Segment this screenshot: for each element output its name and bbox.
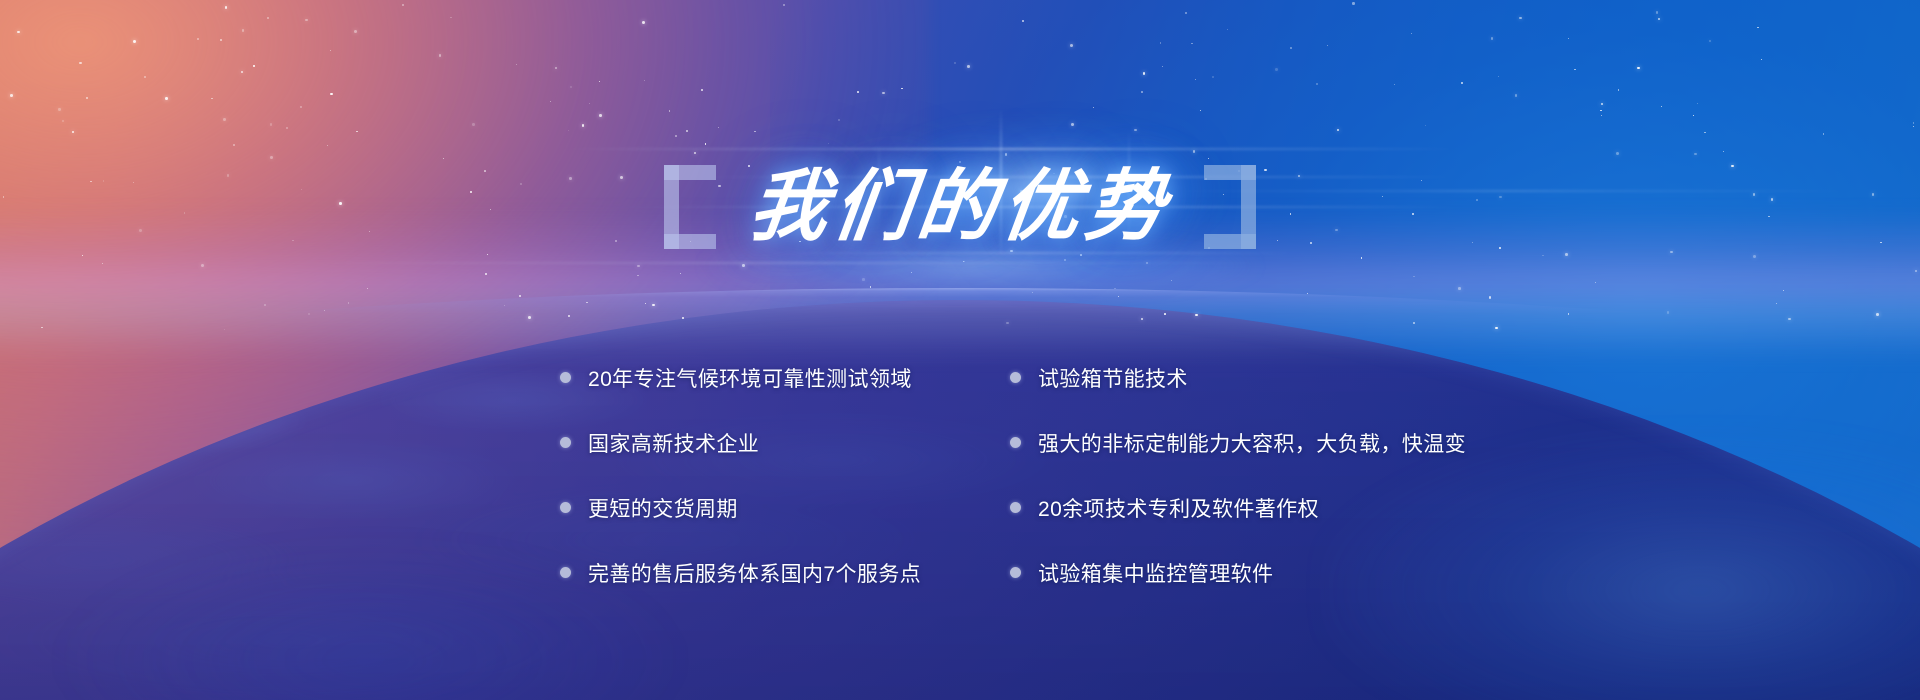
list-item-label: 试验箱集中监控管理软件 bbox=[1038, 558, 1273, 588]
list-item-label: 强大的非标定制能力大容积，大负载，快温变 bbox=[1038, 428, 1466, 458]
list-item: 20余项技术专利及软件著作权 bbox=[1010, 485, 1570, 530]
list-item: 试验箱集中监控管理软件 bbox=[1010, 550, 1570, 595]
list-item-label: 更短的交货周期 bbox=[588, 493, 738, 523]
list-item: 更短的交货周期 bbox=[560, 485, 1010, 530]
bullet-dot-icon bbox=[560, 567, 571, 578]
atmosphere-haze bbox=[0, 210, 1920, 360]
bullet-dot-icon bbox=[560, 502, 571, 513]
list-item: 强大的非标定制能力大容积，大负载，快温变 bbox=[1010, 420, 1570, 465]
advantages-column-left: 20年专注气候环境可靠性测试领域 国家高新技术企业 更短的交货周期 完善的售后服… bbox=[560, 355, 1010, 615]
list-item: 20年专注气候环境可靠性测试领域 bbox=[560, 355, 1010, 400]
bullet-dot-icon bbox=[560, 372, 571, 383]
bullet-dot-icon bbox=[1010, 567, 1021, 578]
list-item: 国家高新技术企业 bbox=[560, 420, 1010, 465]
list-item: 完善的售后服务体系国内7个服务点 bbox=[560, 550, 1010, 595]
bullet-dot-icon bbox=[1010, 502, 1021, 513]
bullet-dot-icon bbox=[1010, 372, 1021, 383]
advantages-column-right: 试验箱节能技术 强大的非标定制能力大容积，大负载，快温变 20余项技术专利及软件… bbox=[1010, 355, 1570, 615]
advantages-lists: 20年专注气候环境可靠性测试领域 国家高新技术企业 更短的交货周期 完善的售后服… bbox=[560, 355, 1600, 615]
list-item-label: 完善的售后服务体系国内7个服务点 bbox=[588, 558, 921, 588]
advantages-banner: 我们的优势 20年专注气候环境可靠性测试领域 国家高新技术企业 更短的交货周期 … bbox=[0, 0, 1920, 700]
list-item-label: 20年专注气候环境可靠性测试领域 bbox=[588, 363, 912, 393]
list-item-label: 20余项技术专利及软件著作权 bbox=[1038, 493, 1319, 523]
bullet-dot-icon bbox=[560, 437, 571, 448]
bullet-dot-icon bbox=[1010, 437, 1021, 448]
list-item-label: 试验箱节能技术 bbox=[1038, 363, 1188, 393]
list-item-label: 国家高新技术企业 bbox=[588, 428, 759, 458]
list-item: 试验箱节能技术 bbox=[1010, 355, 1570, 400]
